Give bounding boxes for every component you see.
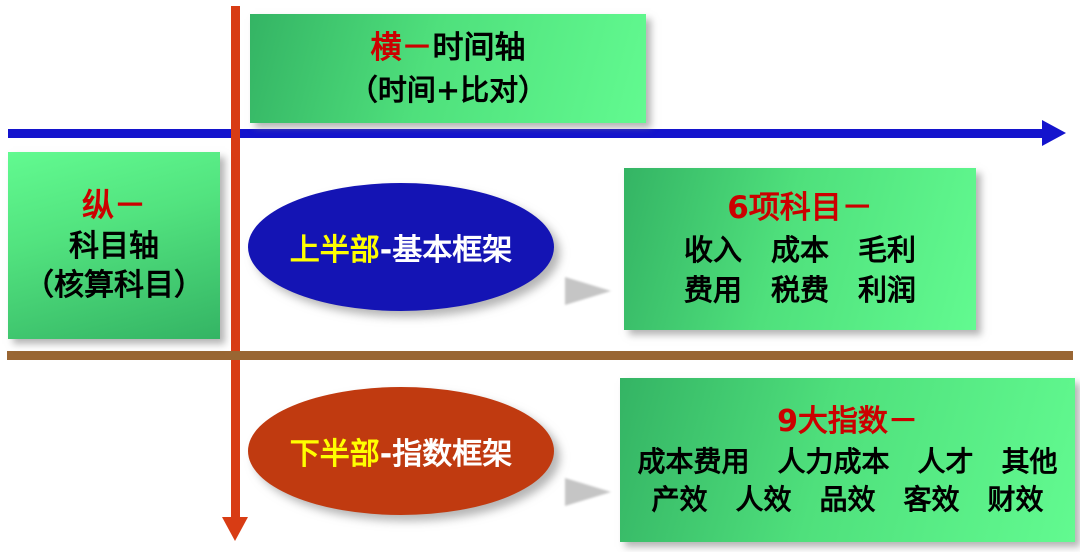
- upper-half-highlight: 上半部: [290, 233, 380, 268]
- lower-connector-arrow-icon: [565, 478, 611, 506]
- six-subjects-head-dash: －: [842, 190, 873, 226]
- upper-half-ellipse: 上半部-基本框架: [248, 183, 554, 311]
- upper-connector-arrow-icon: [565, 277, 611, 305]
- left-box-head-char: 纵: [82, 186, 114, 224]
- nine-indices-line3: 产效 人效 品效 客效 财效: [651, 483, 1043, 516]
- six-subjects-line2: 收入 成本 毛利: [684, 233, 916, 267]
- left-subject-axis-box: 纵－ 科目轴 （核算科目）: [8, 152, 220, 339]
- diagram-canvas: 横－时间轴 （时间+比对） 纵－ 科目轴 （核算科目） 上半部-基本框架 6项科…: [0, 0, 1080, 552]
- six-subjects-box: 6项科目－ 收入 成本 毛利 费用 税费 利润: [624, 168, 976, 330]
- vertical-subject-axis-arrowhead-icon: [222, 517, 248, 541]
- horizontal-time-axis-line: [8, 129, 1044, 138]
- lower-half-highlight: 下半部: [290, 437, 380, 472]
- top-box-subtitle: （时间+比对）: [349, 73, 547, 107]
- nine-indices-title-line: 9大指数－: [777, 404, 918, 439]
- upper-half-label: 上半部-基本框架: [290, 225, 512, 269]
- nine-indices-head: 9大指数: [777, 404, 888, 439]
- nine-indices-box: 9大指数－ 成本费用 人力成本 人才 其他 产效 人效 品效 客效 财效: [620, 378, 1075, 542]
- lower-half-ellipse: 下半部-指数框架: [248, 387, 554, 515]
- left-box-title-line: 纵－: [82, 187, 146, 225]
- half-divider-line: [7, 351, 1073, 360]
- six-subjects-line3: 费用 税费 利润: [684, 273, 916, 307]
- top-box-head-char: 横: [371, 30, 402, 66]
- nine-indices-line2: 成本费用 人力成本 人才 其他: [637, 445, 1057, 478]
- nine-indices-head-dash: －: [888, 404, 918, 439]
- top-box-title-rest: 时间轴: [433, 30, 526, 66]
- left-box-line3: （核算科目）: [24, 268, 204, 303]
- vertical-subject-axis-line: [231, 6, 240, 519]
- upper-half-rest: -基本框架: [380, 233, 512, 268]
- six-subjects-title-line: 6项科目－: [727, 190, 873, 227]
- six-subjects-head: 6项科目: [727, 190, 842, 226]
- top-box-title-line: 横－时间轴: [371, 30, 526, 67]
- lower-half-label: 下半部-指数框架: [290, 429, 512, 473]
- left-box-head-dash: －: [114, 186, 146, 224]
- top-box-head-dash: －: [402, 30, 433, 66]
- top-time-axis-box: 横－时间轴 （时间+比对）: [250, 14, 646, 123]
- lower-half-rest: -指数框架: [380, 437, 512, 472]
- horizontal-time-axis-arrowhead-icon: [1042, 120, 1066, 146]
- left-box-line2: 科目轴: [69, 229, 159, 264]
